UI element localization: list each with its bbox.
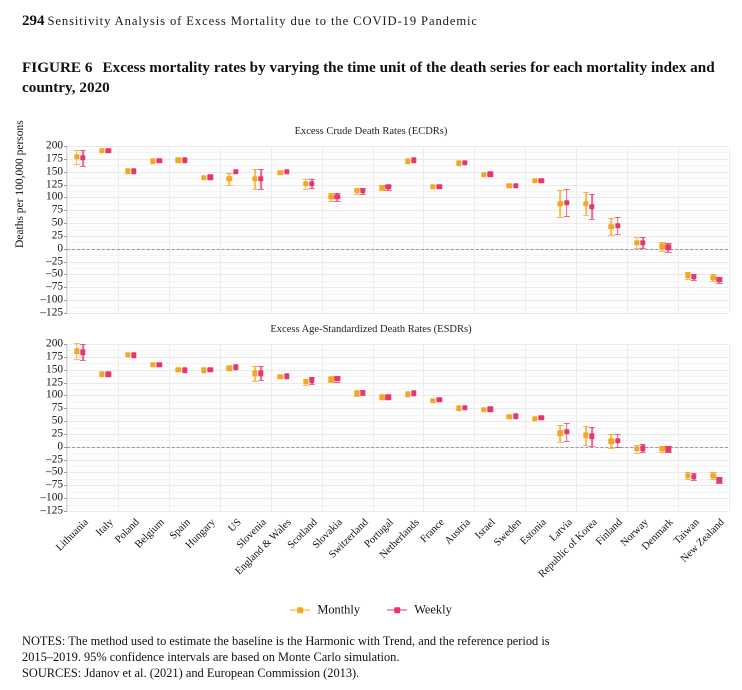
data-point (176, 158, 181, 163)
gridline-horizontal (67, 223, 728, 224)
y-axis-tick-label: 200 (21, 338, 63, 349)
data-point (462, 405, 467, 410)
error-bar-cap (360, 194, 366, 195)
y-axis-tick-label: –100 (21, 294, 63, 305)
data-point (717, 277, 722, 282)
data-point (386, 184, 391, 189)
data-point (207, 367, 212, 372)
gridline-horizontal (67, 313, 728, 314)
error-bar-cap (309, 188, 315, 189)
gridline-horizontal (67, 274, 728, 275)
gridline-horizontal-minor (67, 268, 728, 269)
gridline-horizontal (67, 344, 728, 345)
data-point (558, 201, 563, 206)
data-point (411, 158, 416, 163)
data-point (303, 379, 308, 384)
y-axis-tick-label: –125 (21, 505, 63, 516)
data-point (437, 184, 442, 189)
y-axis-tick-label: –75 (21, 282, 63, 293)
data-point (589, 434, 594, 439)
error-bar-cap (583, 192, 589, 193)
y-axis-tickmark (64, 511, 67, 512)
error-bar-cap (640, 237, 646, 238)
error-bar-cap (258, 366, 264, 367)
error-bar-cap (640, 452, 646, 453)
gridline-vertical (576, 344, 577, 511)
data-point (252, 371, 257, 376)
gridline-horizontal (67, 197, 728, 198)
data-point (640, 446, 645, 451)
data-point (157, 362, 162, 367)
notes-line-3: SOURCES: Jdanov et al. (2021) and Europe… (22, 665, 728, 681)
error-bar-cap (589, 219, 595, 220)
gridline-horizontal (67, 460, 728, 461)
data-point (411, 391, 416, 396)
gridline-horizontal (67, 357, 728, 358)
data-point (507, 414, 512, 419)
error-bar-cap (691, 280, 697, 281)
y-axis-tick-label: 125 (21, 179, 63, 190)
error-bar-cap (583, 215, 589, 216)
x-axis-label-italy: Italy (94, 517, 116, 539)
data-point (354, 391, 359, 396)
notes-line-1: NOTES: The method used to estimate the b… (22, 633, 728, 649)
error-bar-cap (589, 446, 595, 447)
data-point (564, 200, 569, 205)
gridline-vertical (627, 344, 628, 511)
gridline-horizontal-minor (67, 217, 728, 218)
gridline-horizontal-minor (67, 466, 728, 467)
gridline-horizontal (67, 498, 728, 499)
data-point (405, 392, 410, 397)
y-axis-tick-label: 75 (21, 403, 63, 414)
figure-label: FIGURE 6 (22, 59, 92, 76)
gridline-vertical (67, 146, 68, 313)
gridline-horizontal-minor (67, 294, 728, 295)
data-point (640, 240, 645, 245)
data-point (685, 273, 690, 278)
data-point (481, 172, 486, 177)
gridline-vertical (220, 146, 221, 313)
data-point (106, 372, 111, 377)
running-head: 294Sensitivity Analysis of Excess Mortal… (22, 12, 732, 30)
data-point (456, 406, 461, 411)
y-axis-tick-label: 50 (21, 217, 63, 228)
data-point (691, 274, 696, 279)
gridline-horizontal-minor (67, 389, 728, 390)
gridline-vertical (169, 344, 170, 511)
gridline-vertical (474, 146, 475, 313)
gridline-horizontal (67, 485, 728, 486)
y-axis-tick-label: 75 (21, 205, 63, 216)
data-point (564, 429, 569, 434)
gridline-horizontal (67, 370, 728, 371)
legend-item-monthly: Monthly (290, 602, 360, 618)
data-point (233, 169, 238, 174)
data-point (481, 407, 486, 412)
y-axis-tick-label: 200 (21, 140, 63, 151)
data-point (532, 178, 537, 183)
x-axis-label-us: US (226, 517, 243, 534)
error-bar-cap (360, 395, 366, 396)
error-bar-cap (710, 479, 716, 480)
gridline-horizontal-minor (67, 505, 728, 506)
error-bar-cap (608, 218, 614, 219)
error-bar-cap (226, 185, 232, 186)
error-bar-cap (716, 483, 722, 484)
error-bar-cap (665, 243, 671, 244)
error-bar-cap (334, 382, 340, 383)
data-point (538, 415, 543, 420)
gridline-horizontal-minor (67, 230, 728, 231)
gridline-horizontal-minor (67, 307, 728, 308)
legend-label-weekly: Weekly (414, 603, 452, 617)
error-bar-cap (716, 283, 722, 284)
gridline-vertical (220, 344, 221, 511)
data-point (379, 185, 384, 190)
gridline-horizontal-minor (67, 479, 728, 480)
error-bar-cap (665, 452, 671, 453)
legend-swatch-monthly (290, 607, 310, 614)
gridline-horizontal-minor (67, 428, 728, 429)
error-bar-cap (309, 384, 315, 385)
data-point (182, 158, 187, 163)
data-point (278, 374, 283, 379)
gridline-horizontal (67, 185, 728, 186)
gridline-vertical (271, 146, 272, 313)
gridline-horizontal-minor (67, 363, 728, 364)
gridline-horizontal-minor (67, 152, 728, 153)
plot-panel-ecdr: 2001751501251007550250–25–50–75–100–125 (66, 146, 728, 313)
gridline-horizontal (67, 210, 728, 211)
gridline-horizontal-minor (67, 242, 728, 243)
error-bar-cap (614, 434, 620, 435)
gridline-vertical (373, 146, 374, 313)
gridline-horizontal-minor (67, 440, 728, 441)
gridline-vertical (525, 146, 526, 313)
x-axis-label-estonia: Estonia (519, 517, 549, 547)
y-axis-tick-label: 25 (21, 428, 63, 439)
data-point (609, 438, 614, 443)
data-point (125, 352, 130, 357)
error-bar-cap (258, 189, 264, 190)
gridline-horizontal-minor (67, 204, 728, 205)
data-point (558, 431, 563, 436)
data-point (80, 155, 85, 160)
data-point (74, 348, 79, 353)
y-axis-tick-label: –125 (21, 307, 63, 318)
gridline-vertical (423, 146, 424, 313)
data-point (583, 201, 588, 206)
error-bar-cap (80, 150, 86, 151)
data-point (309, 378, 314, 383)
data-point (335, 194, 340, 199)
data-point (379, 395, 384, 400)
error-bar-cap (563, 216, 569, 217)
x-axis-label-lithuania: Lithuania (54, 517, 90, 553)
error-bar-cap (640, 248, 646, 249)
error-bar-cap (614, 234, 620, 235)
y-axis-tick-label: 50 (21, 415, 63, 426)
data-point (615, 438, 620, 443)
y-axis-tick-label: –100 (21, 492, 63, 503)
data-point (666, 447, 671, 452)
y-axis-tick-label: –25 (21, 256, 63, 267)
error-bar-cap (303, 385, 309, 386)
data-point (335, 376, 340, 381)
data-point (258, 176, 263, 181)
data-point (284, 169, 289, 174)
error-bar-cap (258, 169, 264, 170)
gridline-vertical (322, 344, 323, 511)
x-axis-label-france: France (419, 517, 447, 545)
data-point (660, 446, 665, 451)
data-point (354, 188, 359, 193)
data-point (227, 365, 232, 370)
error-bar-cap (710, 281, 716, 282)
gridline-vertical (322, 146, 323, 313)
gridline-horizontal-minor (67, 191, 728, 192)
gridline-horizontal (67, 262, 728, 263)
gridline-vertical (678, 146, 679, 313)
gridline-horizontal (67, 511, 728, 512)
error-bar-cap (80, 344, 86, 345)
gridline-horizontal (67, 159, 728, 160)
legend-swatch-weekly (387, 607, 407, 614)
gridline-horizontal-minor (67, 281, 728, 282)
data-point (80, 350, 85, 355)
gridline-horizontal-minor (67, 376, 728, 377)
data-point (227, 176, 232, 181)
gridline-vertical (118, 344, 119, 511)
x-axis-label-sweden: Sweden (492, 517, 523, 548)
error-bar-cap (80, 166, 86, 167)
y-axis-tick-label: 150 (21, 166, 63, 177)
data-point (615, 223, 620, 228)
y-axis-tick-label: 100 (21, 390, 63, 401)
data-point (125, 168, 130, 173)
error-bar-cap (589, 194, 595, 195)
data-point (710, 275, 715, 280)
y-axis-tick-label: 25 (21, 230, 63, 241)
data-point (405, 159, 410, 164)
error-bar-cap (589, 427, 595, 428)
y-axis-tick-label: 175 (21, 351, 63, 362)
gridline-horizontal (67, 146, 728, 147)
data-point (309, 181, 314, 186)
y-axis-tick-label: –25 (21, 454, 63, 465)
data-point (532, 416, 537, 421)
y-axis-tick-label: –50 (21, 467, 63, 478)
data-point (258, 371, 263, 376)
data-point (106, 148, 111, 153)
panel-title-ecdr: Excess Crude Death Rates (ECDRs) (0, 126, 742, 137)
error-bar-cap (614, 217, 620, 218)
data-point (360, 390, 365, 395)
gridline-horizontal (67, 383, 728, 384)
legend-item-weekly: Weekly (387, 602, 452, 618)
x-axis-label-austria: Austria (443, 517, 473, 547)
data-point (386, 395, 391, 400)
data-point (284, 374, 289, 379)
data-point (634, 446, 639, 451)
page-number: 294 (22, 13, 45, 29)
figure-caption-text: Excess mortality rates by varying the ti… (22, 59, 715, 96)
data-point (201, 175, 206, 180)
data-point (589, 204, 594, 209)
gridline-vertical (118, 146, 119, 313)
gridline-horizontal (67, 300, 728, 301)
data-point (717, 477, 722, 482)
error-bar-cap (557, 425, 563, 426)
gridline-vertical (525, 344, 526, 511)
data-point (691, 474, 696, 479)
error-bar-cap (309, 179, 315, 180)
data-point (488, 407, 493, 412)
gridline-vertical (423, 344, 424, 511)
error-bar-cap (226, 173, 232, 174)
data-point (278, 170, 283, 175)
data-point (462, 160, 467, 165)
error-bar-cap (385, 190, 391, 191)
panel-title-esdr: Excess Age-Standardized Death Rates (ESD… (0, 324, 742, 335)
gridline-horizontal (67, 395, 728, 396)
data-point (488, 172, 493, 177)
error-bar-cap (563, 441, 569, 442)
data-point (430, 398, 435, 403)
error-bar-cap (608, 235, 614, 236)
data-point (99, 148, 104, 153)
gridline-horizontal (67, 172, 728, 173)
gridline-horizontal (67, 408, 728, 409)
error-bar-cap (258, 380, 264, 381)
gridline-horizontal-minor (67, 492, 728, 493)
data-point (201, 368, 206, 373)
data-point (666, 245, 671, 250)
data-point (131, 168, 136, 173)
y-axis-tick-label: 0 (21, 243, 63, 254)
data-point (609, 224, 614, 229)
figure-chart-area: Deaths per 100,000 persons Excess Crude … (0, 118, 742, 628)
gridline-horizontal-minor (67, 453, 728, 454)
data-point (157, 158, 162, 163)
gridline-vertical (729, 146, 730, 313)
zero-reference-line (67, 447, 728, 448)
error-bar-cap (691, 480, 697, 481)
error-bar-cap (80, 360, 86, 361)
zero-reference-line (67, 249, 728, 250)
data-point (131, 353, 136, 358)
y-axis-tick-label: 0 (21, 441, 63, 452)
gridline-vertical (67, 344, 68, 511)
gridline-vertical (271, 344, 272, 511)
y-axis-tickmark (64, 313, 67, 314)
data-point (150, 362, 155, 367)
gridline-horizontal-minor (67, 402, 728, 403)
y-axis-tick-label: 175 (21, 153, 63, 164)
data-point (329, 377, 334, 382)
data-point (685, 473, 690, 478)
data-point (74, 154, 79, 159)
gridline-horizontal (67, 434, 728, 435)
gridline-vertical (373, 344, 374, 511)
gridline-vertical (729, 344, 730, 511)
chart-legend: Monthly Weekly (0, 602, 742, 618)
y-axis-tick-label: 150 (21, 364, 63, 375)
running-head-title: Sensitivity Analysis of Excess Mortality… (48, 14, 478, 28)
error-bar-cap (563, 189, 569, 190)
figure-caption: FIGURE 6Excess mortality rates by varyin… (22, 58, 728, 98)
data-point (583, 433, 588, 438)
data-point (437, 397, 442, 402)
error-bar-cap (614, 447, 620, 448)
gridline-horizontal-minor (67, 415, 728, 416)
error-bar-cap (665, 252, 671, 253)
y-axis-tick-label: 125 (21, 377, 63, 388)
data-point (303, 181, 308, 186)
figure-notes: NOTES: The method used to estimate the b… (22, 633, 728, 681)
gridline-vertical (576, 146, 577, 313)
gridline-horizontal-minor (67, 165, 728, 166)
data-point (513, 414, 518, 419)
data-point (430, 184, 435, 189)
gridline-horizontal (67, 421, 728, 422)
y-axis-tick-label: 100 (21, 192, 63, 203)
data-point (233, 364, 238, 369)
gridline-horizontal-minor (67, 178, 728, 179)
error-bar-cap (557, 190, 563, 191)
data-point (329, 194, 334, 199)
data-point (513, 183, 518, 188)
y-axis-tick-label: –75 (21, 480, 63, 491)
data-point (360, 188, 365, 193)
data-point (456, 161, 461, 166)
gridline-horizontal (67, 472, 728, 473)
data-point (207, 175, 212, 180)
error-bar-cap (334, 201, 340, 202)
notes-line-2: 2015–2019. 95% confidence intervals are … (22, 649, 728, 665)
gridline-vertical (678, 344, 679, 511)
gridline-horizontal-minor (67, 255, 728, 256)
data-point (660, 243, 665, 248)
data-point (507, 183, 512, 188)
gridline-horizontal (67, 236, 728, 237)
error-bar-cap (557, 442, 563, 443)
data-point (99, 372, 104, 377)
plot-panel-esdr: 2001751501251007550250–25–50–75–100–125 (66, 344, 728, 511)
data-point (538, 178, 543, 183)
data-point (634, 240, 639, 245)
error-bar-cap (563, 423, 569, 424)
gridline-vertical (169, 146, 170, 313)
gridline-horizontal (67, 287, 728, 288)
legend-label-monthly: Monthly (317, 603, 360, 617)
data-point (710, 473, 715, 478)
data-point (182, 368, 187, 373)
data-point (176, 367, 181, 372)
data-point (150, 159, 155, 164)
gridline-horizontal-minor (67, 350, 728, 351)
gridline-vertical (627, 146, 628, 313)
data-point (252, 176, 257, 181)
y-axis-tick-label: –50 (21, 269, 63, 280)
gridline-vertical (474, 344, 475, 511)
